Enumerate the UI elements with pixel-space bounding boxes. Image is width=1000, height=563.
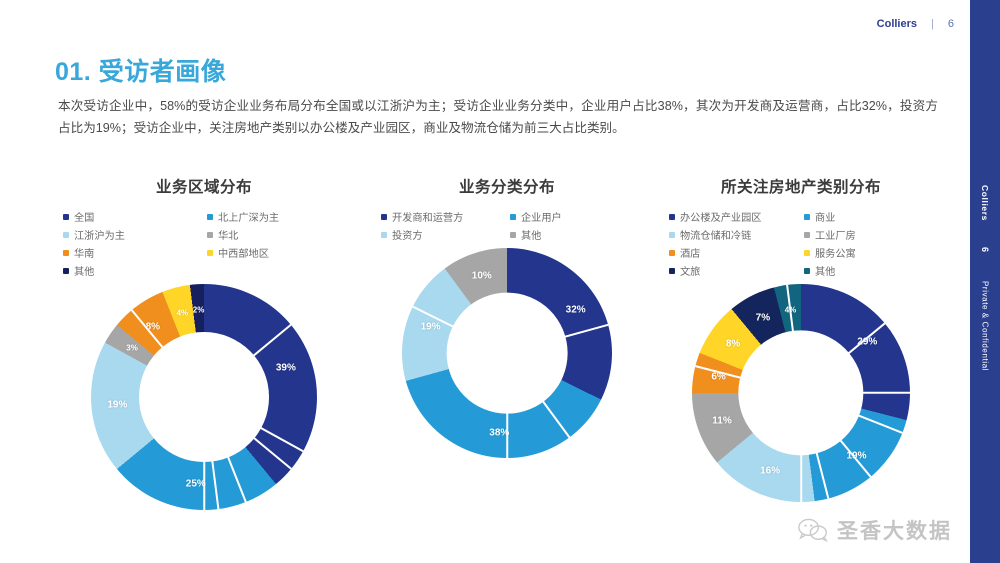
chart-title: 业务分类分布 — [363, 175, 651, 197]
legend-item[interactable]: 投资方 — [381, 227, 504, 242]
legend-label: 文旅 — [680, 263, 700, 278]
legend-item[interactable]: 江浙沪为主 — [63, 227, 201, 242]
legend-swatch-icon — [510, 232, 516, 238]
legend-label: 其他 — [521, 227, 541, 242]
legend-swatch-icon — [207, 250, 213, 256]
slice-value-label: 39% — [276, 362, 296, 373]
donut-chart: 29%19%16%11%6%8%7%4% — [692, 284, 910, 502]
donut-wrap: 39%25%19%3%8%4%2% — [45, 284, 363, 510]
brand-name: Colliers — [877, 18, 917, 30]
legend-swatch-icon — [207, 232, 213, 238]
legend-label: 办公楼及产业园区 — [680, 209, 762, 224]
legend-item[interactable]: 华南 — [63, 245, 201, 260]
slice-value-label: 2% — [193, 306, 205, 315]
legend-swatch-icon — [63, 232, 69, 238]
legend-label: 商业 — [815, 209, 835, 224]
legend-label: 工业厂房 — [815, 227, 856, 242]
legend-label: 酒店 — [680, 245, 700, 260]
legend-label: 北上广深为主 — [218, 209, 279, 224]
slice-value-label: 19% — [107, 400, 127, 411]
chart-title: 业务区域分布 — [45, 175, 363, 197]
slice-value-label: 3% — [126, 344, 138, 353]
legend-item[interactable]: 酒店 — [669, 245, 798, 260]
rail-brand: Colliers — [980, 185, 990, 221]
slice-value-label: 8% — [726, 338, 740, 349]
legend-label: 全国 — [74, 209, 94, 224]
legend-swatch-icon — [669, 232, 675, 238]
legend-item[interactable]: 工业厂房 — [804, 227, 933, 242]
slice-value-label: 11% — [712, 416, 731, 427]
legend-swatch-icon — [669, 250, 675, 256]
donut-wrap: 32%38%19%10% — [363, 248, 651, 458]
legend-item[interactable]: 开发商和运营方 — [381, 209, 504, 224]
donut-chart: 39%25%19%3%8%4%2% — [91, 284, 317, 510]
legend-item[interactable]: 中西部地区 — [207, 245, 345, 260]
legend-item[interactable]: 服务公寓 — [804, 245, 933, 260]
legend-swatch-icon — [510, 214, 516, 220]
legend-label: 江浙沪为主 — [74, 227, 125, 242]
legend-label: 华北 — [218, 227, 238, 242]
slice-value-label: 10% — [472, 271, 492, 282]
legend-swatch-icon — [63, 214, 69, 220]
donut-chart: 32%38%19%10% — [402, 248, 612, 458]
legend-swatch-icon — [804, 268, 810, 274]
header-separator: | — [931, 18, 934, 30]
slice-value-label: 19% — [421, 321, 441, 332]
legend-label: 中西部地区 — [218, 245, 269, 260]
rail-confidential: Private & Confidential — [981, 281, 990, 371]
legend-item[interactable]: 其他 — [804, 263, 933, 278]
legend-item[interactable]: 其他 — [510, 227, 633, 242]
page-title: 01. 受访者画像 — [55, 52, 226, 88]
legend-label: 企业用户 — [521, 209, 562, 224]
legend-item[interactable]: 企业用户 — [510, 209, 633, 224]
legend-label: 其他 — [815, 263, 835, 278]
legend-swatch-icon — [804, 232, 810, 238]
chart-property-type: 所关注房地产类别分布 办公楼及产业园区商业物流仓储和冷链工业厂房酒店服务公寓文旅… — [651, 175, 951, 535]
page-number: 6 — [948, 18, 954, 30]
slice-value-label: 16% — [760, 466, 780, 477]
legend-label: 华南 — [74, 245, 94, 260]
watermark: 圣香大数据 — [798, 515, 952, 545]
chart-business-category: 业务分类分布 开发商和运营方企业用户投资方其他 32%38%19%10% — [363, 175, 651, 535]
legend-item[interactable]: 北上广深为主 — [207, 209, 345, 224]
legend-swatch-icon — [381, 232, 387, 238]
slice-value-label: 7% — [756, 313, 770, 324]
chart-legend: 开发商和运营方企业用户投资方其他 — [363, 209, 651, 242]
legend-swatch-icon — [669, 268, 675, 274]
chart-title: 所关注房地产类别分布 — [651, 175, 951, 197]
slide-header: Colliers | 6 — [877, 18, 954, 30]
summary-paragraph: 本次受访企业中，58%的受访企业业务布局分布全国或以江浙沪为主；受访企业业务分类… — [58, 95, 938, 140]
legend-item[interactable]: 物流仓储和冷链 — [669, 227, 798, 242]
legend-item[interactable]: 商业 — [804, 209, 933, 224]
slice-divider — [506, 353, 508, 458]
legend-item[interactable]: 文旅 — [669, 263, 798, 278]
legend-label: 其他 — [74, 263, 94, 278]
legend-label: 开发商和运营方 — [392, 209, 463, 224]
right-rail: Colliers 6 Private & Confidential — [970, 0, 1000, 563]
slice-value-label: 32% — [566, 305, 586, 316]
legend-item[interactable]: 华北 — [207, 227, 345, 242]
slice-value-label: 4% — [177, 308, 189, 317]
slice-divider — [800, 393, 802, 502]
donut-wrap: 29%19%16%11%6%8%7%4% — [651, 284, 951, 502]
legend-label: 投资方 — [392, 227, 423, 242]
legend-item[interactable]: 全国 — [63, 209, 201, 224]
chart-legend: 办公楼及产业园区商业物流仓储和冷链工业厂房酒店服务公寓文旅其他 — [651, 209, 951, 278]
slice-divider — [801, 392, 910, 394]
wechat-icon — [798, 518, 828, 542]
charts-row: 业务区域分布 全国北上广深为主江浙沪为主华北华南中西部地区其他 39%25%19… — [45, 175, 960, 535]
legend-label: 服务公寓 — [815, 245, 856, 260]
legend-item[interactable]: 办公楼及产业园区 — [669, 209, 798, 224]
legend-swatch-icon — [63, 250, 69, 256]
legend-swatch-icon — [804, 250, 810, 256]
legend-label: 物流仓储和冷链 — [680, 227, 751, 242]
legend-item[interactable]: 其他 — [63, 263, 201, 278]
slide-canvas: Colliers | 6 01. 受访者画像 本次受访企业中，58%的受访企业业… — [0, 0, 1000, 563]
legend-swatch-icon — [207, 214, 213, 220]
rail-page-number: 6 — [980, 247, 990, 253]
chart-legend: 全国北上广深为主江浙沪为主华北华南中西部地区其他 — [45, 209, 363, 278]
legend-swatch-icon — [381, 214, 387, 220]
legend-swatch-icon — [669, 214, 675, 220]
legend-swatch-icon — [63, 268, 69, 274]
watermark-text: 圣香大数据 — [837, 515, 952, 545]
legend-swatch-icon — [804, 214, 810, 220]
chart-business-region: 业务区域分布 全国北上广深为主江浙沪为主华北华南中西部地区其他 39%25%19… — [45, 175, 363, 535]
